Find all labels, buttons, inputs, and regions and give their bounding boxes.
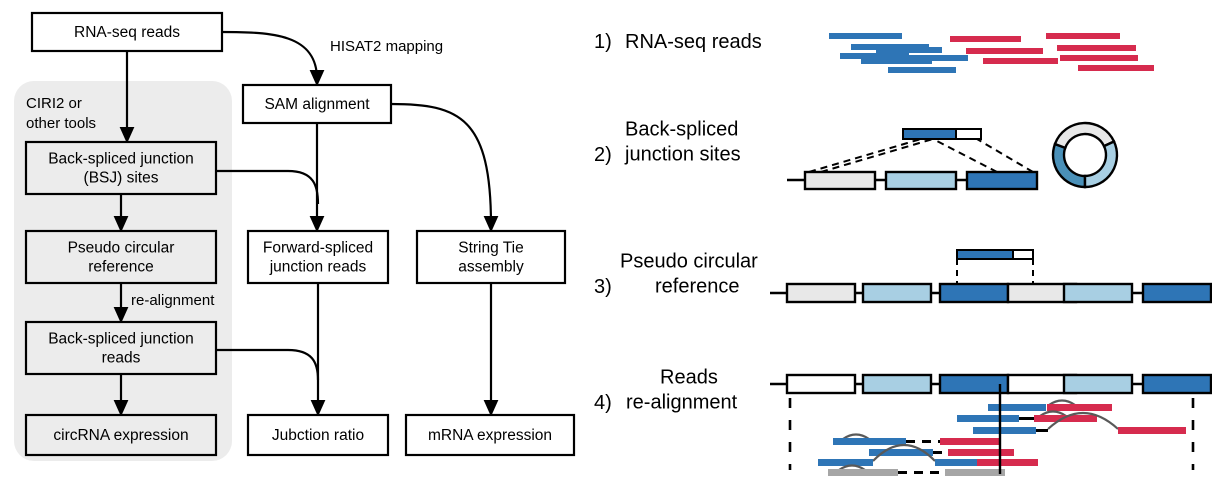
step-label-2: Back-spliced: [625, 119, 738, 141]
flow-box-bsj_reads[interactable]: Back-spliced junctionreads: [26, 322, 216, 374]
realign-read-blue2-6: [935, 459, 977, 466]
rnaseq-read-red-4: [1046, 33, 1120, 39]
step-label-3: Pseudo circular: [620, 251, 758, 273]
flow-box-bsj_sites[interactable]: Back-spliced junction(BSJ) sites: [26, 142, 216, 194]
realign-read-red-3: [1118, 427, 1186, 434]
pseudo-exon-2: [863, 284, 931, 302]
diagram-canvas: CIRI2 or other tools: [0, 0, 1212, 483]
box-label-pseudo_circ_ref: Pseudo circular: [68, 240, 175, 257]
rnaseq-read-red-2: [966, 48, 1043, 54]
figure-root: CIRI2 or other tools: [0, 0, 1212, 483]
step-labels: 1)RNA-seq reads2)Back-splicedjunction si…: [594, 31, 762, 414]
realign-read-blue-3: [973, 427, 1036, 434]
realign-exon-1: [787, 375, 855, 393]
realign-exon-6: [1143, 375, 1211, 393]
box-label-circrna_expression: circRNA expression: [53, 427, 188, 444]
bsj-exon-3: [967, 172, 1037, 189]
step-number-2: 2): [594, 144, 612, 166]
step-3: 3)Pseudo circularreference: [594, 251, 758, 299]
box-label-junction_ratio: Jubction ratio: [272, 427, 364, 444]
realign-exon-5: [1064, 375, 1132, 393]
step-2: 2)Back-splicedjunction sites: [594, 119, 741, 167]
box-label-pseudo_circ_ref: reference: [88, 259, 153, 276]
panel-bsj-sites: [787, 123, 1117, 189]
rnaseq-read-red-3: [983, 58, 1058, 64]
realign-exon-2: [863, 375, 931, 393]
pseudo-exon-3: [940, 284, 1008, 302]
bsj-dash-exon1-b: [821, 139, 933, 172]
realign-read-blue-1: [988, 404, 1046, 411]
box-label-rna_seq_reads: RNA-seq reads: [74, 24, 180, 41]
panel-rnaseq-reads: [829, 33, 1154, 73]
rnaseq-read-red-5: [1057, 45, 1136, 51]
box-label-bsj_reads: reads: [102, 350, 141, 367]
rnaseq-read-red-7: [1078, 65, 1154, 71]
box-label-forward_spliced: Forward-spliced: [263, 240, 373, 257]
box-label-string_tie_assembly: String Tie: [458, 240, 523, 257]
realign-read-red-6: [977, 459, 1038, 466]
realign-read-blue-4: [833, 438, 906, 445]
step-1: 1)RNA-seq reads: [594, 31, 762, 53]
realign-read-red-5: [948, 449, 1014, 456]
step-label-2: junction sites: [624, 144, 741, 166]
pseudo-exon-5: [1064, 284, 1132, 302]
step-4: 4)Readsre-alignment: [594, 367, 738, 415]
circrna-light-blue-arc: [1085, 141, 1117, 187]
step-label-4: re-alignment: [626, 392, 738, 414]
rnaseq-read-red-6: [1060, 55, 1138, 61]
box-label-string_tie_assembly: assembly: [458, 259, 524, 276]
realign-read-red-4: [940, 438, 1000, 445]
step-number-4: 4): [594, 392, 612, 414]
box-label-mrna_expression: mRNA expression: [428, 427, 552, 444]
pseudo-exon-6: [1143, 284, 1211, 302]
step-label-3: reference: [655, 276, 740, 298]
bsj-dash-exon3-a: [933, 139, 997, 172]
flow-box-sam_alignment[interactable]: SAM alignment: [243, 85, 391, 123]
box-label-bsj_sites: (BSJ) sites: [84, 170, 159, 187]
step-number-3: 3): [594, 276, 612, 298]
bsj-fragment-dark: [903, 129, 956, 139]
panel-reads-realignment: [770, 375, 1212, 476]
flow-box-circrna_expression[interactable]: circRNA expression: [26, 415, 216, 455]
realign-read-blue-2: [957, 415, 1019, 422]
pseudo-fragment-dark: [957, 250, 1013, 259]
panel-pseudo-circular: [770, 250, 1212, 302]
flow-box-junction_ratio[interactable]: Jubction ratio: [248, 415, 388, 455]
rnaseq-read-blue-4: [876, 47, 942, 53]
realign-read-gray-7: [828, 469, 898, 476]
circrna-light-gray-arc: [1055, 123, 1114, 148]
bsj-exon-1: [805, 172, 875, 189]
box-label-sam_alignment: SAM alignment: [264, 96, 370, 113]
bsj-exon-2: [886, 172, 956, 189]
panel-label-line1: CIRI2 or: [26, 95, 82, 112]
step-label-1: RNA-seq reads: [625, 31, 762, 53]
pseudo-fragment-light: [1013, 250, 1033, 259]
edge-sam-to-stringtie: [391, 104, 491, 225]
flow-box-forward_spliced[interactable]: Forward-splicedjunction reads: [248, 231, 388, 283]
panel-label-line2: other tools: [26, 115, 96, 132]
step-label-4: Reads: [660, 367, 718, 389]
box-label-bsj_sites: Back-spliced junction: [48, 151, 194, 168]
box-label-bsj_reads: Back-spliced junction: [48, 331, 194, 348]
bsj-fragment-light: [956, 129, 981, 139]
rnaseq-read-blue-7: [888, 67, 956, 73]
bsj-dash-exon1-a: [809, 139, 921, 172]
circrna-dark-blue-arc: [1053, 144, 1085, 187]
edge-reads-to-sam: [222, 32, 317, 79]
flow-box-rna_seq_reads[interactable]: RNA-seq reads: [32, 13, 222, 51]
rnaseq-read-blue-1: [829, 33, 902, 39]
step-number-1: 1): [594, 31, 612, 53]
realign-exon-3: [940, 375, 1008, 393]
flow-box-pseudo_circ_ref[interactable]: Pseudo circularreference: [26, 231, 216, 283]
realign-read-gray2-7: [945, 469, 1005, 476]
rnaseq-read-red-1: [950, 36, 1021, 42]
pseudo-exon-1: [787, 284, 855, 302]
edge-label-hisat2: HISAT2 mapping: [330, 38, 443, 55]
realign-read-red-1: [1047, 404, 1112, 411]
edge-label-realignment: re-alignment: [131, 292, 215, 309]
box-label-forward_spliced: junction reads: [269, 259, 367, 276]
realign-read-blue-6: [818, 459, 873, 466]
rnaseq-read-blue-6: [902, 55, 968, 61]
flow-box-string_tie_assembly[interactable]: String Tieassembly: [417, 231, 565, 283]
flow-box-mrna_expression[interactable]: mRNA expression: [406, 415, 574, 455]
